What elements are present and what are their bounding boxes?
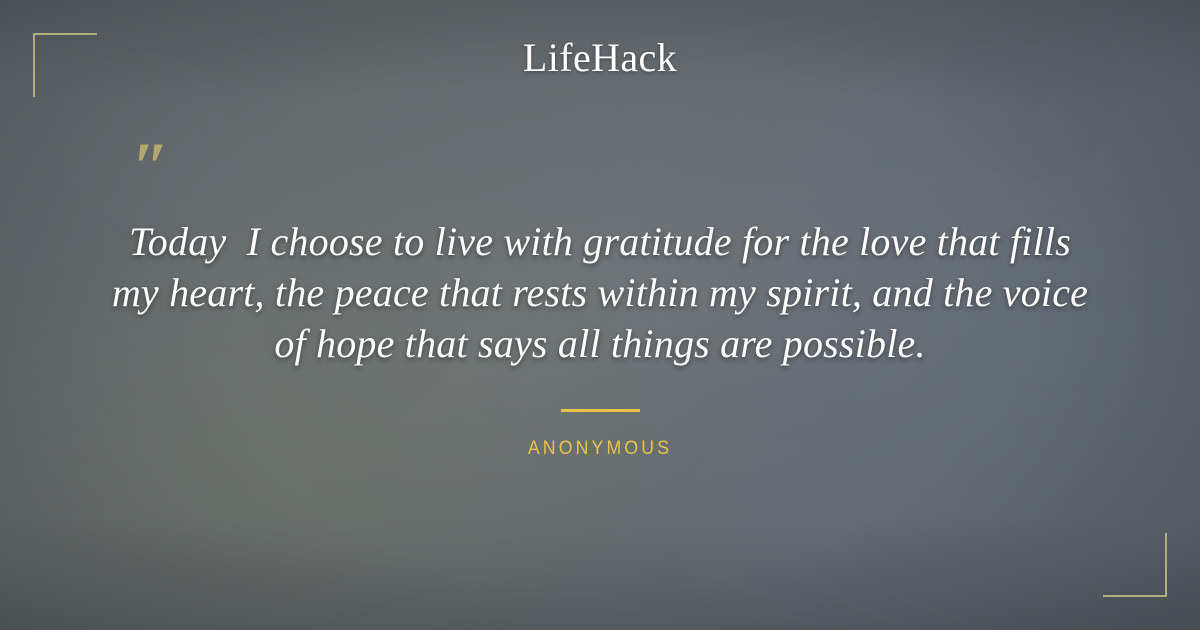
quote-text-block: Today I choose to live with gratitude fo… (60, 216, 1140, 369)
quote-author: ANONYMOUS (42, 439, 1158, 458)
quotation-mark-icon: ″ (132, 132, 168, 200)
quote-card: LifeHack ″ Today I choose to live with g… (0, 0, 1200, 630)
quote-line: Today I choose to live with gratitude fo… (60, 216, 1140, 267)
quote-line: of hope that says all things are possibl… (60, 318, 1140, 369)
attribution-divider (561, 409, 640, 412)
corner-bracket-bottom-right (1103, 533, 1167, 597)
brand-wordmark: LifeHack (0, 38, 1200, 78)
quote-line: my heart, the peace that rests within my… (60, 267, 1140, 318)
